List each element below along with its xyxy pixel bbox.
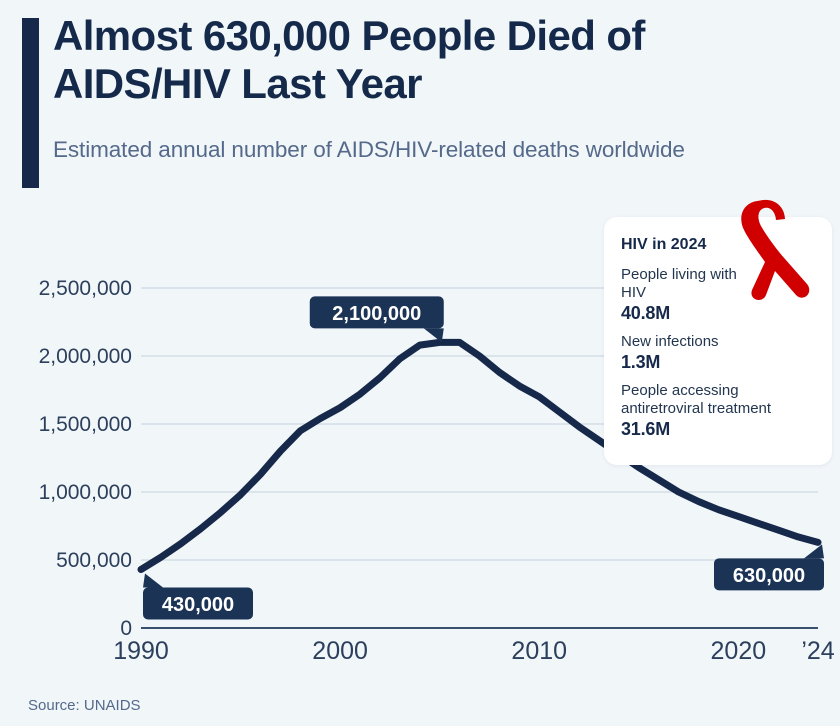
x-axis-tick-label: 1990 [113,637,169,665]
page-title: Almost 630,000 People Died of AIDS/HIV L… [53,12,753,108]
aids-ribbon-icon [725,198,817,313]
y-axis-tick-label: 500,000 [56,549,132,572]
stat-label: People accessing antiretroviral treatmen… [621,382,821,418]
stat-new-infections: New infections 1.3M [621,333,821,374]
callout-label: 630,000 [733,565,805,587]
accent-bar [22,18,39,188]
y-axis-tick-label: 1,000,000 [39,481,132,504]
data-callout: 630,000 [714,544,824,590]
stat-value: 31.6M [621,418,821,441]
data-callout: 2,100,000 [310,296,444,342]
stat-label: New infections [621,333,821,351]
header: Almost 630,000 People Died of AIDS/HIV L… [0,0,840,205]
source-note: Source: UNAIDS [28,697,141,714]
callout-label: 2,100,000 [332,303,421,325]
data-callout: 430,000 [143,574,253,620]
callout-label: 430,000 [162,594,234,616]
stat-value: 1.3M [621,351,821,374]
callout-tail [804,544,824,558]
callout-tail [143,574,163,588]
x-axis-tick-label: 2000 [312,637,368,665]
infographic-root: Almost 630,000 People Died of AIDS/HIV L… [0,0,840,726]
x-axis-tick-label: 2010 [511,637,567,665]
x-axis-tick-label: 2020 [711,637,767,665]
y-axis-tick-label: 2,500,000 [39,277,132,300]
y-axis-tick-label: 1,500,000 [39,413,132,436]
y-axis-tick-label: 2,000,000 [39,345,132,368]
page-subtitle: Estimated annual number of AIDS/HIV-rela… [53,135,693,165]
x-axis-tick-label: ’24 [801,637,834,665]
stat-label: People living with HIV [621,266,739,302]
stat-antiretroviral-treatment: People accessing antiretroviral treatmen… [621,382,821,441]
